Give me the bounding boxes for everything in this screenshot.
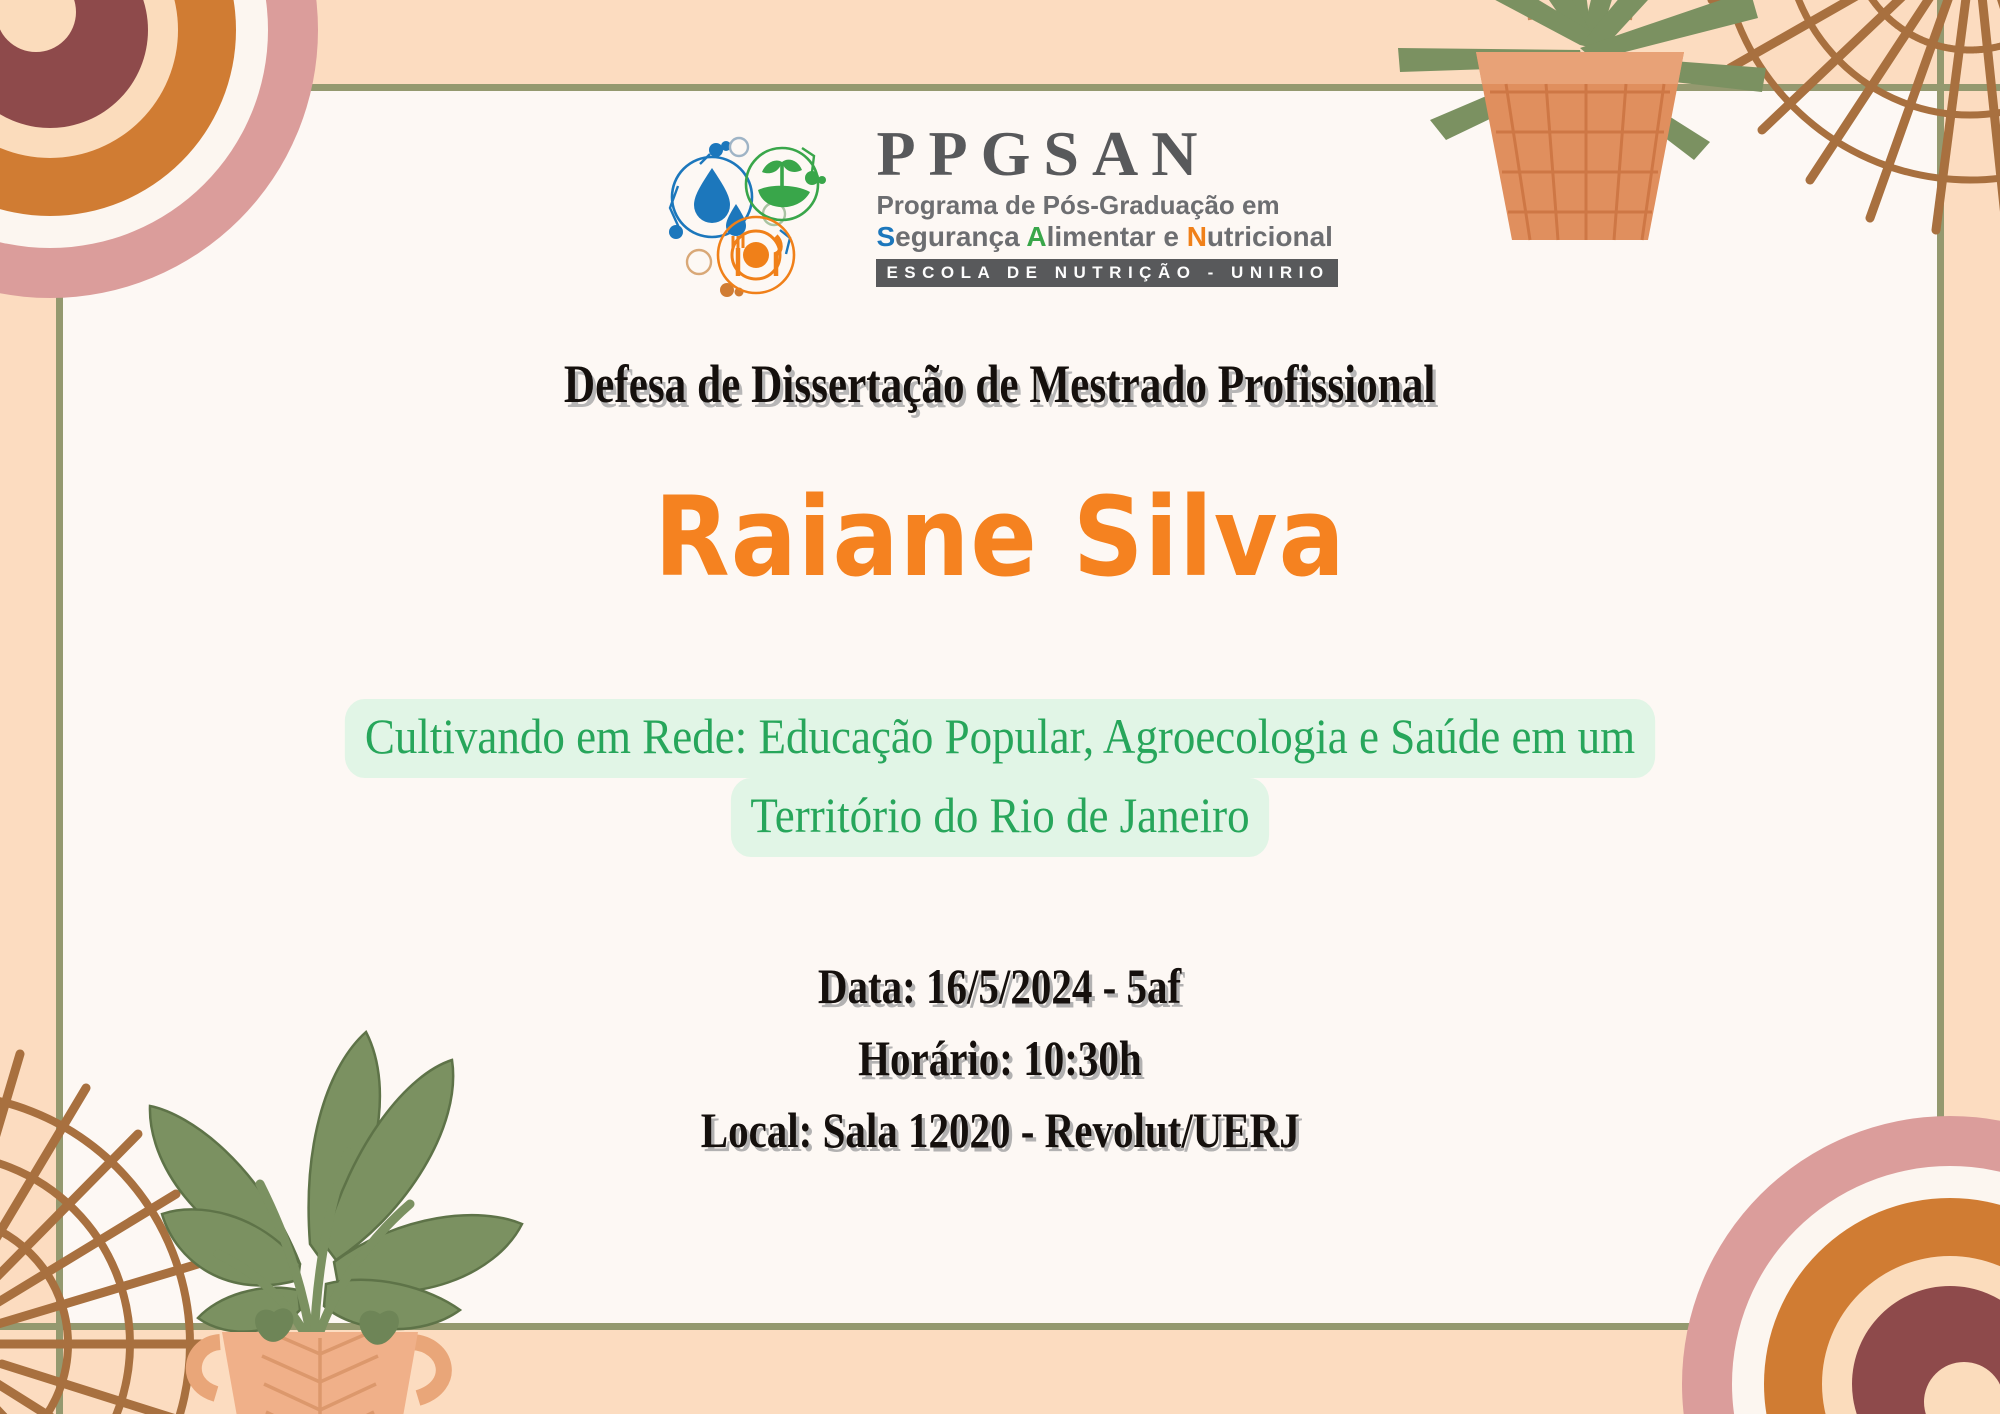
water-drop-icon: [672, 157, 752, 237]
student-name: Raiane Silva: [654, 483, 1345, 593]
logo-alimentar-text: limentar e: [1047, 221, 1187, 252]
logo-n-letter: N: [1187, 221, 1207, 252]
logo-seguranca-text: egurança: [895, 221, 1026, 252]
detail-date: Data: 16/5/2024 - 5af: [818, 957, 1181, 1015]
logo-escola-badge: ESCOLA DE NUTRIÇÃO - UNIRIO: [876, 259, 1337, 287]
poster-content: PPGSAN Programa de Pós-Graduação em Segu…: [0, 0, 2000, 1414]
ppgsan-logo: PPGSAN Programa de Pós-Graduação em Segu…: [662, 112, 1337, 297]
dot-icon: [669, 225, 683, 239]
logo-s-letter: S: [876, 221, 895, 252]
event-details: Data: 16/5/2024 - 5af Horário: 10:30h Lo…: [635, 957, 1366, 1159]
logo-subtitle-line-2: Segurança Alimentar e Nutricional: [876, 221, 1337, 252]
detail-time: Horário: 10:30h: [858, 1029, 1142, 1087]
detail-place: Local: Sala 12020 - Revolut/UERJ: [700, 1101, 1299, 1159]
outline-circle-icon: [687, 250, 711, 274]
logo-a-letter: A: [1026, 221, 1046, 252]
thesis-title: Cultivando em Rede: Educação Popular, Ag…: [100, 699, 1900, 857]
dot-icon: [709, 143, 723, 157]
logo-nutricional-text: utricional: [1207, 221, 1333, 252]
logo-subtitle-line-1: Programa de Pós-Graduação em: [876, 191, 1337, 220]
outline-circle-icon: [730, 138, 748, 156]
logo-icon-cluster: [662, 112, 862, 297]
logo-wordmark: PPGSAN Programa de Pós-Graduação em Segu…: [876, 122, 1337, 286]
sprout-hand-icon: [746, 148, 818, 220]
thesis-title-line-1: Cultivando em Rede: Educação Popular, Ag…: [345, 699, 1655, 778]
poster-canvas: PPGSAN Programa de Pós-Graduação em Segu…: [0, 0, 2000, 1414]
thesis-title-line-2: Território do Rio de Janeiro: [731, 778, 1270, 857]
logo-acronym: PPGSAN: [876, 122, 1337, 186]
plate-cutlery-icon: [718, 217, 794, 293]
page-title: Defesa de Dissertação de Mestrado Profis…: [564, 353, 1435, 415]
